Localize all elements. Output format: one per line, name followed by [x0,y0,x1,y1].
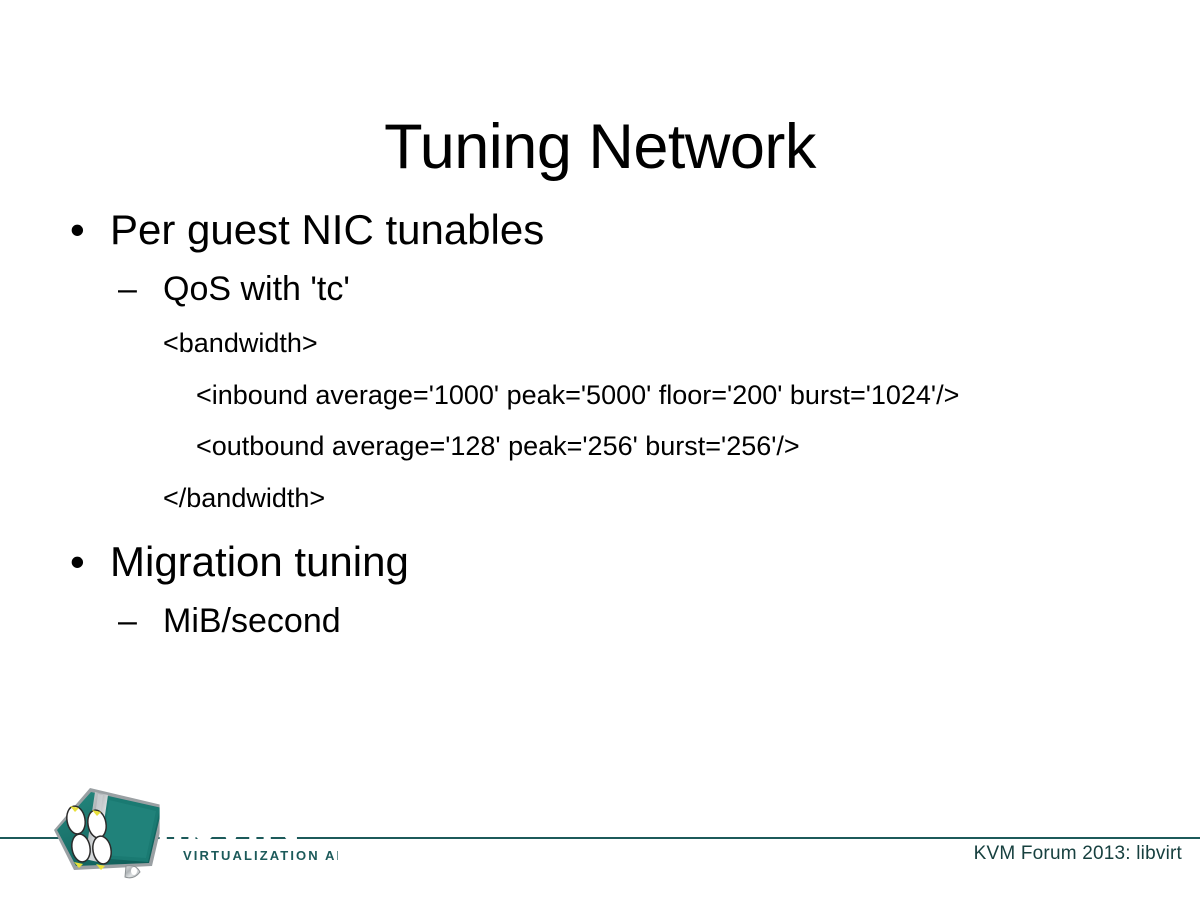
code-line: <bandwidth> [0,327,1200,360]
code-line: </bandwidth> [0,482,1200,515]
spacer [0,515,1200,537]
dash-marker-icon: – [118,269,137,310]
page-title: Tuning Network [0,114,1200,180]
toolbox-icon [54,788,166,878]
dash-marker-icon: – [118,601,137,642]
logo-tagline: VIRTUALIZATION API [183,848,338,863]
sub-bullet-text: MiB/second [163,602,341,640]
bullet-marker-icon: • [70,537,85,587]
sub-bullet-item: – MiB/second [0,601,1200,642]
bullet-text: Migration tuning [110,538,409,585]
slide-body: • Per guest NIC tunables – QoS with 'tc'… [0,205,1200,648]
bullet-item: • Per guest NIC tunables [0,205,1200,255]
logo-wordmark: libvirt [156,794,298,852]
slide: Tuning Network • Per guest NIC tunables … [0,0,1200,900]
bullet-text: Per guest NIC tunables [110,206,544,253]
sub-bullet-text: QoS with 'tc' [163,270,350,308]
libvirt-logo: libvirt VIRTUALIZATION API [48,778,338,883]
bullet-marker-icon: • [70,205,85,255]
footer-label: KVM Forum 2013: libvirt [974,843,1182,865]
code-line: <inbound average='1000' peak='5000' floo… [0,379,1200,412]
code-line: <outbound average='128' peak='256' burst… [0,430,1200,463]
bullet-item: • Migration tuning [0,537,1200,587]
sub-bullet-item: – QoS with 'tc' [0,269,1200,310]
